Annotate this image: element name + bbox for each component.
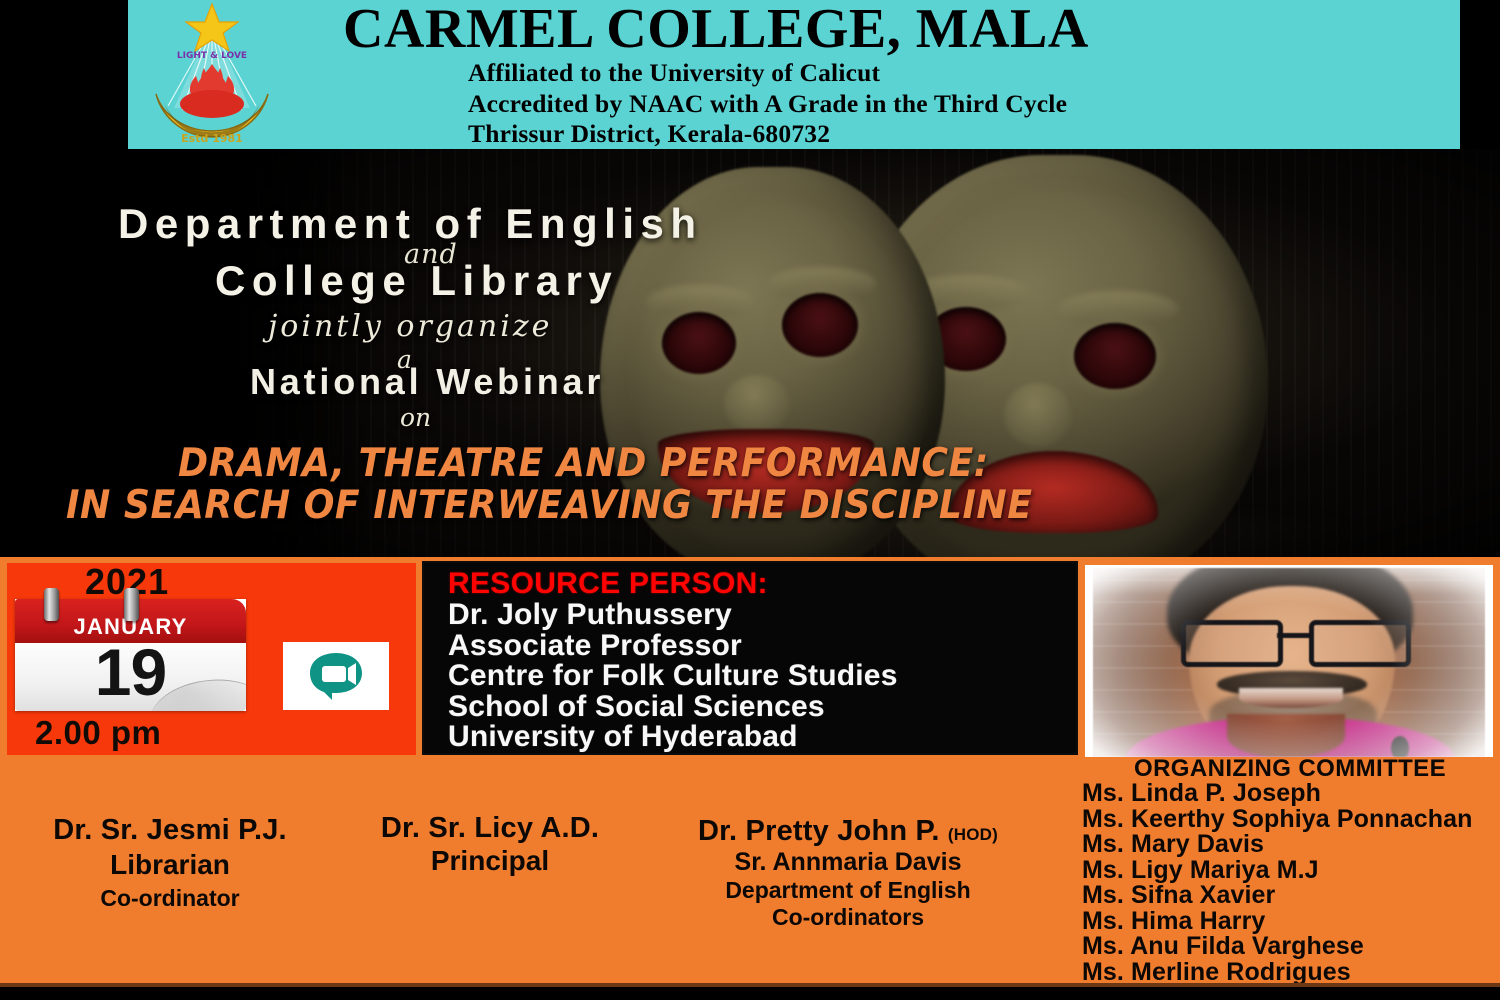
official-name: Dr. Sr. Jesmi P.J.: [10, 812, 330, 848]
resource-person-photo: [1093, 568, 1485, 757]
official-role: Principal: [345, 845, 635, 877]
college-line-accreditation: Accredited by NAAC with A Grade in the T…: [468, 89, 1067, 120]
official-name-secondary: Sr. Annmaria Davis: [648, 848, 1048, 877]
list-item: Ms. Hima Harry: [1082, 909, 1473, 935]
national-webinar-label: National Webinar: [250, 361, 604, 403]
college-emblem-icon: LIGHT & LOVE Estd 1981: [146, 2, 278, 149]
college-line-affiliation: Affiliated to the University of Calicut: [468, 58, 1067, 89]
resource-person-university: University of Hyderabad: [448, 722, 898, 753]
official-department: Department of English: [648, 877, 1048, 904]
webinar-title-line-1: DRAMA, THEATRE AND PERFORMANCE:: [178, 441, 989, 486]
college-logo: LIGHT & LOVE Estd 1981: [146, 2, 278, 149]
logo-established-text: Estd 1981: [181, 132, 243, 145]
official-name: Dr. Sr. Licy A.D.: [345, 812, 635, 845]
official-name: Dr. Pretty John P. (HOD): [648, 815, 1048, 848]
official-name-text: Dr. Pretty John P.: [698, 815, 940, 847]
official-hod-coordinators: Dr. Pretty John P. (HOD) Sr. Annmaria Da…: [648, 815, 1048, 931]
official-role: Librarian: [10, 848, 330, 882]
event-time: 2.00 pm: [35, 714, 161, 752]
page-title: CARMEL COLLEGE, MALA: [343, 0, 1453, 60]
calendar-ring-left: [44, 588, 59, 621]
list-item: Ms. Linda P. Joseph: [1082, 781, 1473, 807]
list-item: Ms. Merline Rodrigues: [1082, 960, 1473, 986]
hod-tag: (HOD): [948, 825, 998, 844]
official-librarian: Dr. Sr. Jesmi P.J. Librarian Co-ordinato…: [10, 812, 330, 914]
college-header-band: LIGHT & LOVE Estd 1981 CARMEL COLLEGE, M…: [128, 0, 1460, 149]
college-subtitle-lines: Affiliated to the University of Calicut …: [468, 58, 1067, 149]
jointly-organize-label: jointly organize: [268, 309, 552, 344]
video-camera-bubble-icon: [305, 650, 367, 702]
bottom-black-strip: [0, 987, 1500, 1000]
resource-person-details: Dr. Joly Puthussery Associate Professor …: [448, 600, 898, 753]
list-item: Ms. Keerthy Sophiya Ponnachan: [1082, 807, 1473, 833]
resource-person-centre: Centre for Folk Culture Studies: [448, 661, 898, 692]
webinar-title-line-2: IN SEARCH OF INTERWEAVING THE DISCIPLINE: [66, 483, 1032, 528]
resource-person-name: Dr. Joly Puthussery: [448, 600, 898, 631]
list-item: Ms. Anu Filda Varghese: [1082, 934, 1473, 960]
college-line-address: Thrissur District, Kerala-680732: [468, 119, 1067, 149]
official-principal: Dr. Sr. Licy A.D. Principal: [345, 812, 635, 877]
hero-section: Department of English and College Librar…: [0, 149, 1500, 557]
list-item: Ms. Ligy Mariya M.J: [1082, 858, 1473, 884]
official-subrole: Co-ordinators: [648, 904, 1048, 931]
library-label: College Library: [215, 257, 618, 305]
on-connector-label: on: [400, 403, 431, 432]
resource-person-heading: RESOURCE PERSON:: [448, 567, 768, 601]
list-item: Ms. Sifna Xavier: [1082, 883, 1473, 909]
event-date-block: 2021 JANUARY 19 2.00 pm: [7, 563, 416, 755]
calendar-icon: JANUARY 19: [15, 599, 246, 711]
committee-member-list: Ms. Linda P. Joseph Ms. Keerthy Sophiya …: [1082, 781, 1473, 1000]
calendar-ring-right: [124, 588, 139, 621]
resource-person-school: School of Social Sciences: [448, 692, 898, 723]
google-meet-icon: [283, 642, 389, 710]
list-item: Ms. Mary Davis: [1082, 832, 1473, 858]
official-subrole: Co-ordinator: [10, 882, 330, 914]
logo-motto-text: LIGHT & LOVE: [177, 51, 247, 61]
resource-person-photo-frame: [1085, 565, 1493, 757]
webinar-poster: LIGHT & LOVE Estd 1981 CARMEL COLLEGE, M…: [0, 0, 1500, 1000]
resource-person-box: RESOURCE PERSON: Dr. Joly Puthussery Ass…: [422, 561, 1078, 755]
resource-person-designation: Associate Professor: [448, 631, 898, 662]
details-band: 2021 JANUARY 19 2.00 pm: [0, 557, 1500, 987]
